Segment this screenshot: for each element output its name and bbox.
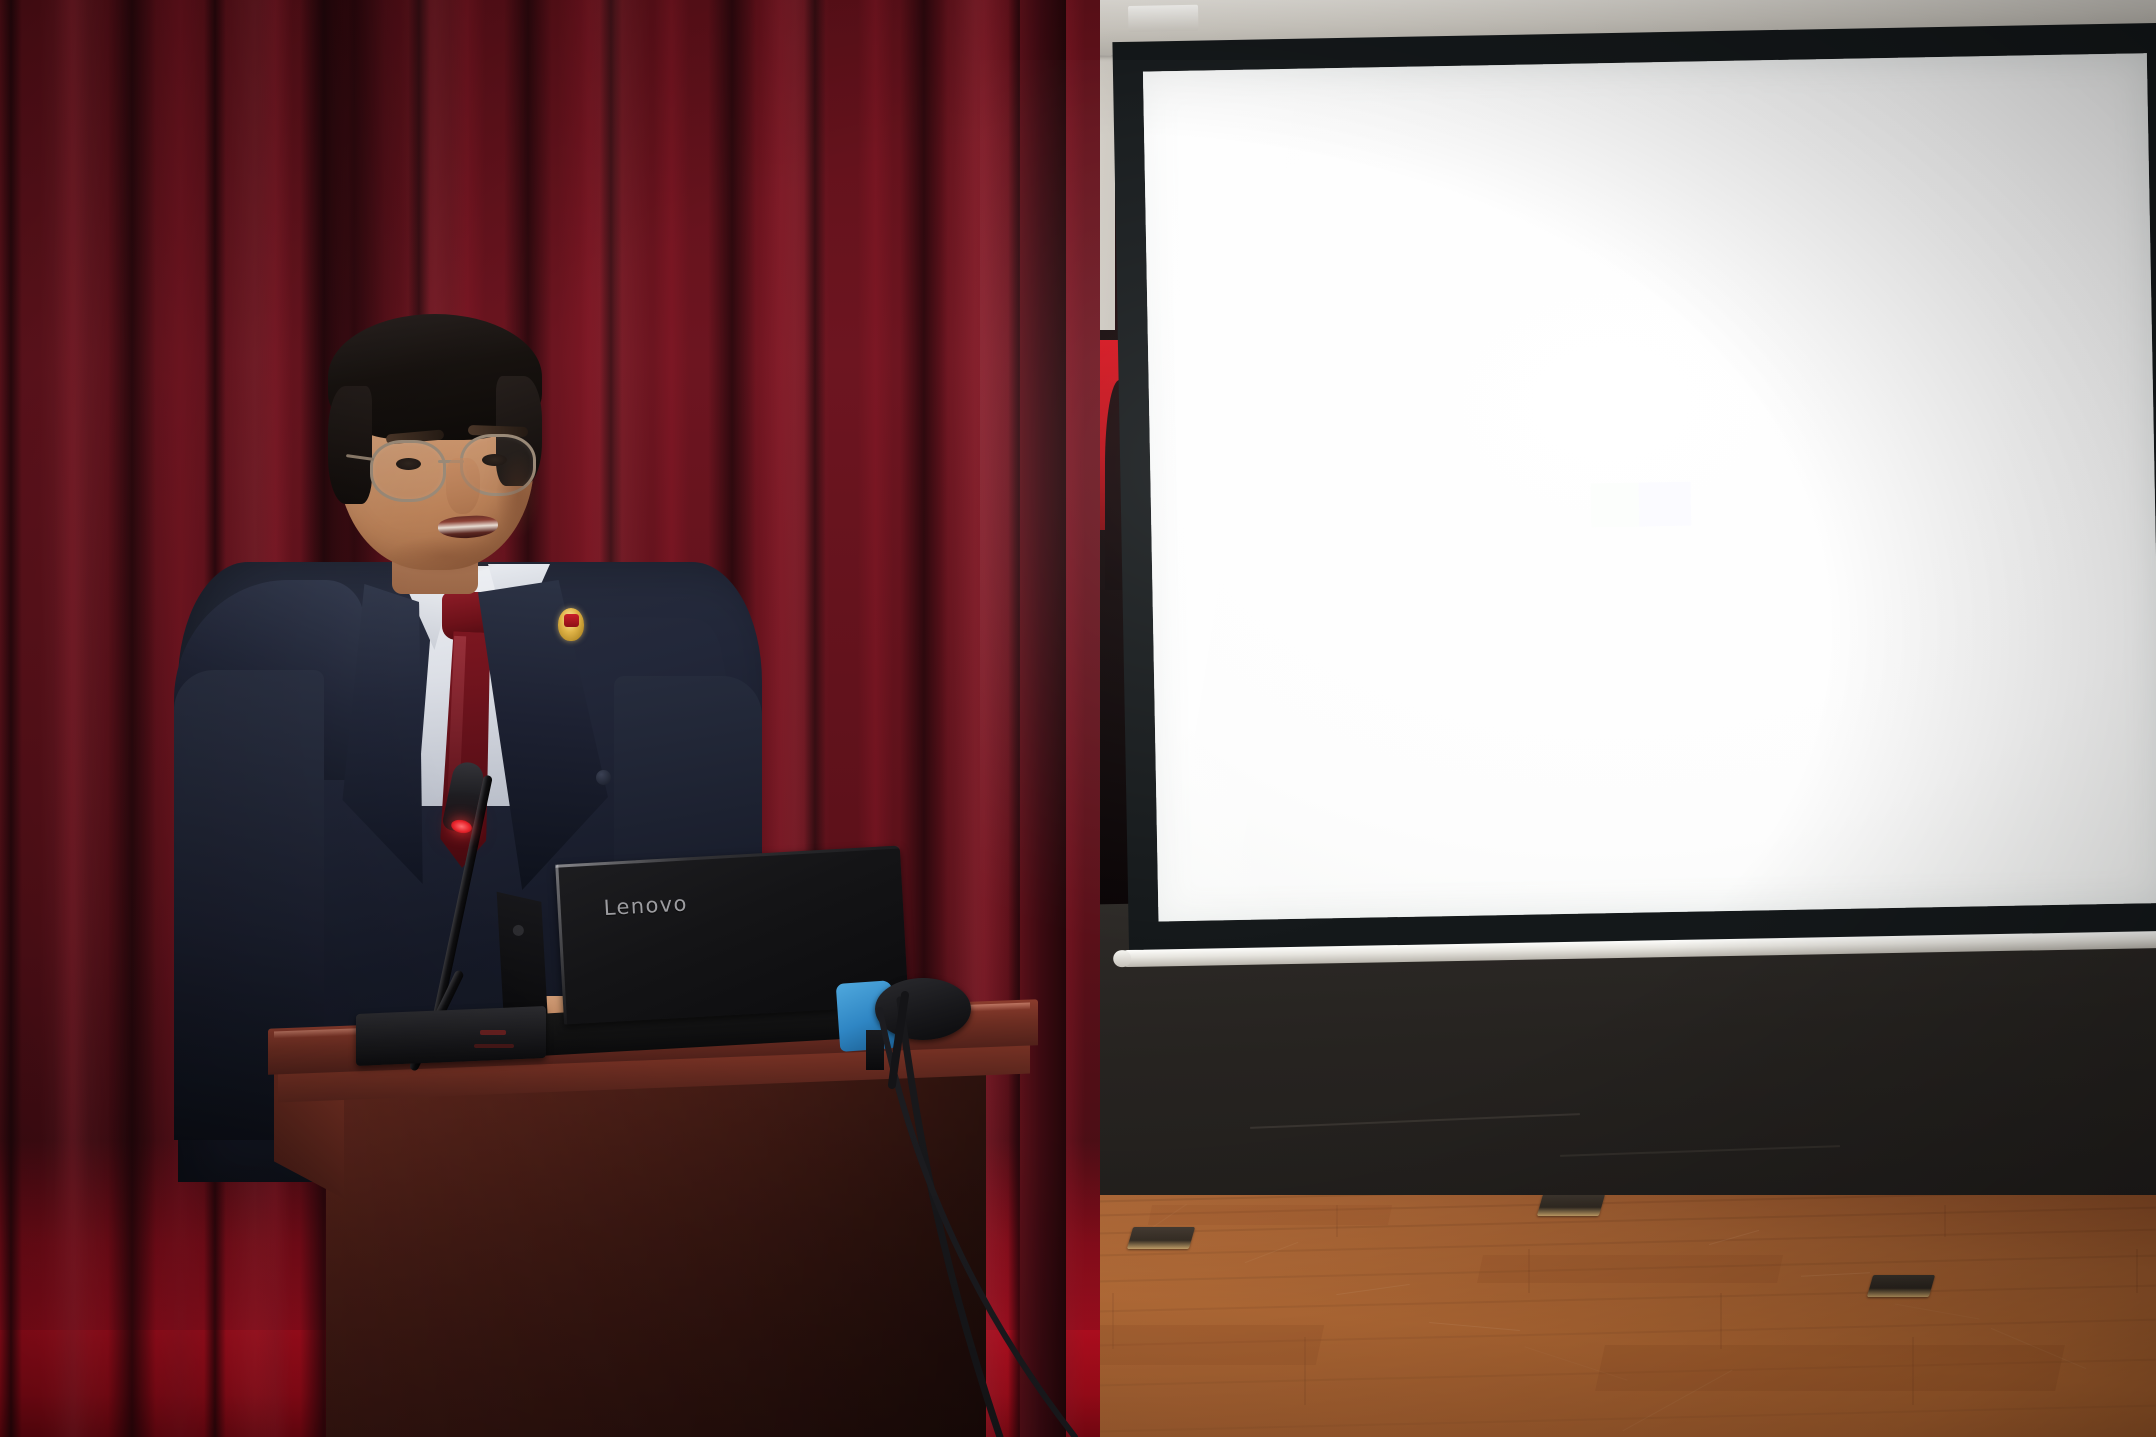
floor-scratch: [1709, 1230, 1759, 1245]
floor-scratch: [1336, 1284, 1409, 1295]
curtain-pleat: [0, 0, 22, 1437]
microphone-base-indicator: [480, 1030, 506, 1035]
floor-scratch: [1429, 1322, 1520, 1331]
glasses-lens-left: [370, 440, 446, 502]
microphone-base-unit[interactable]: [356, 1006, 546, 1066]
faint-slide-block: [1639, 482, 1692, 527]
floor-plank-tone: [1595, 1345, 2065, 1391]
microphone-base-indicator: [474, 1044, 514, 1048]
curtain-pleat: [108, 0, 156, 1437]
nose: [446, 458, 480, 514]
projection-screen[interactable]: [1120, 1, 2156, 960]
floor-socket-plate[interactable]: [1867, 1275, 1935, 1297]
screen-bar-endcap: [1113, 950, 1131, 967]
photo-scene: Lenovo: [0, 0, 2156, 1437]
cheek-shadow: [496, 452, 540, 538]
floor-plank-seam: [1720, 1293, 1722, 1349]
handheld-microphone-stand: [866, 1030, 884, 1070]
faint-slide-block: [1591, 483, 1640, 528]
laptop-brand-logo: Lenovo: [603, 891, 688, 920]
floor-plank-tone: [1148, 1205, 1392, 1225]
lectern-body-shading: [326, 1070, 986, 1437]
lapel-badge-emblem: [564, 614, 579, 627]
floor-scratch: [1801, 1272, 1870, 1277]
curtain-fold-highlight: [40, 0, 110, 1437]
floor-plank-seam: [1944, 1205, 1946, 1237]
chin-shadow: [386, 536, 504, 576]
floor-socket-plate[interactable]: [1537, 1195, 1605, 1216]
floor-plank-seam: [2136, 1249, 2138, 1293]
screen-surface: [1143, 53, 2156, 921]
lectern[interactable]: [268, 1014, 1038, 1437]
hair-side-left: [328, 386, 372, 504]
handheld-microphone-windscreen[interactable]: [875, 978, 971, 1040]
floor-plank-tone: [1477, 1255, 1783, 1283]
floor-scratch: [1895, 1304, 1980, 1320]
suit-button: [596, 770, 611, 785]
floor-socket-plate[interactable]: [1127, 1227, 1195, 1249]
